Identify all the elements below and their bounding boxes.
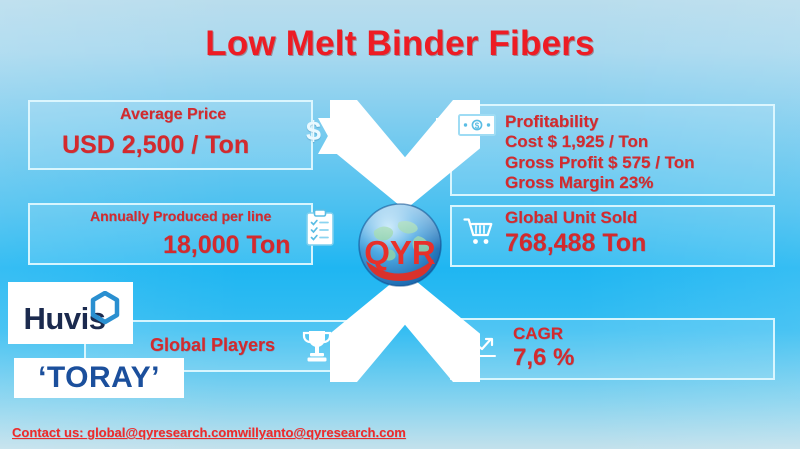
logo-toray-text: ‘TORAY’ xyxy=(38,361,160,395)
infographic-canvas: Low Melt Binder Fibers Average Price USD… xyxy=(0,0,800,449)
trophy-icon xyxy=(300,328,334,369)
qyr-logo-text: QYR xyxy=(364,234,436,271)
global-players-label: Global Players xyxy=(150,335,275,356)
card-cagr xyxy=(450,318,775,380)
clipboard-checklist-icon xyxy=(305,209,335,252)
profitability-cost: Cost $ 1,925 / Ton xyxy=(505,132,695,152)
profitability-label: Profitability xyxy=(505,112,695,132)
profitability-text-block: Profitability Cost $ 1,925 / Ton Gross P… xyxy=(505,112,695,194)
logo-huvis: Huvis xyxy=(8,282,133,344)
average-price-label: Average Price xyxy=(120,106,226,124)
profitability-gross-margin: Gross Margin 23% xyxy=(505,173,695,193)
average-price-value: USD 2,500 / Ton xyxy=(62,131,249,160)
footer-email-1[interactable]: global@qyresearch.com xyxy=(87,425,238,440)
global-unit-sold-label: Global Unit Sold xyxy=(505,208,637,228)
banknote-icon: $ xyxy=(458,114,496,141)
page-title: Low Melt Binder Fibers xyxy=(0,24,800,64)
qyr-globe-logo: QYR xyxy=(352,198,448,294)
dollar-sign-icon: $ xyxy=(306,116,321,147)
footer-prefix: Contact us: xyxy=(12,425,87,440)
annually-produced-value: 18,000 Ton xyxy=(163,231,290,260)
cagr-value: 7,6 % xyxy=(513,344,574,372)
global-unit-sold-value: 768,488 Ton xyxy=(505,229,646,258)
shopping-cart-icon xyxy=(463,217,497,252)
footer-email-2[interactable]: willyanto@qyresearch.com xyxy=(238,425,406,440)
profitability-gross-profit: Gross Profit $ 575 / Ton xyxy=(505,153,695,173)
logo-toray: ‘TORAY’ xyxy=(14,358,184,398)
cagr-label: CAGR xyxy=(513,324,563,344)
svg-text:$: $ xyxy=(475,122,480,131)
annually-produced-label: Annually Produced per line xyxy=(90,208,271,224)
footer-contact[interactable]: Contact us: global@qyresearch.comwillyan… xyxy=(12,425,406,440)
hexagon-icon xyxy=(88,291,122,330)
line-chart-icon xyxy=(464,332,498,365)
